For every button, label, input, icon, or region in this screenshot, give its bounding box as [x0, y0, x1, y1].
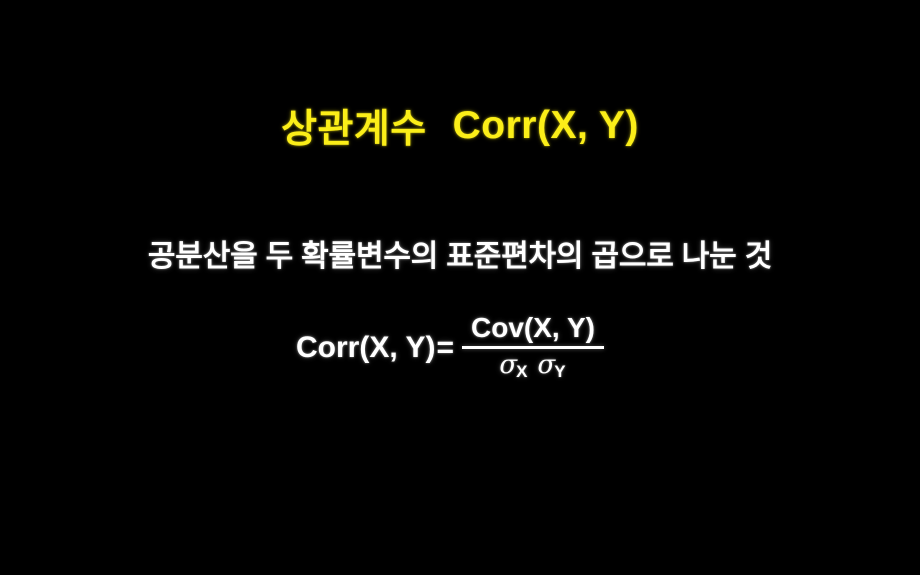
slide-canvas: 상관계수 Corr(X, Y) 공분산을 두 확률변수의 표준편차의 곱으로 나… [0, 0, 920, 575]
formula-left-hand-side: Corr(X, Y) [296, 333, 435, 363]
slide-title: 상관계수 Corr(X, Y) [0, 98, 920, 154]
sigma-x-subscript: X [516, 362, 527, 382]
sigma-x-symbol: σ [499, 352, 517, 378]
formula-numerator: Cov(X, Y) [468, 312, 598, 345]
title-latin-notation: Corr(X, Y) [453, 104, 639, 148]
formula-fraction: Cov(X, Y) σXσY [462, 312, 604, 377]
formula-equals-sign: = [436, 333, 454, 363]
formula-inner: Corr(X, Y) = Cov(X, Y) σXσY [296, 312, 604, 377]
slide-subtitle: 공분산을 두 확률변수의 표준편차의 곱으로 나눈 것 [0, 232, 920, 274]
sigma-y-subscript: Y [554, 362, 565, 382]
sigma-y-symbol: σ [538, 352, 556, 378]
formula-block: Corr(X, Y) = Cov(X, Y) σXσY [0, 300, 920, 390]
formula-denominator: σXσY [499, 349, 566, 378]
definition-text: 공분산을 두 확률변수의 표준편차의 곱으로 나눈 것 [148, 231, 772, 275]
title-korean-term: 상관계수 [281, 98, 427, 154]
